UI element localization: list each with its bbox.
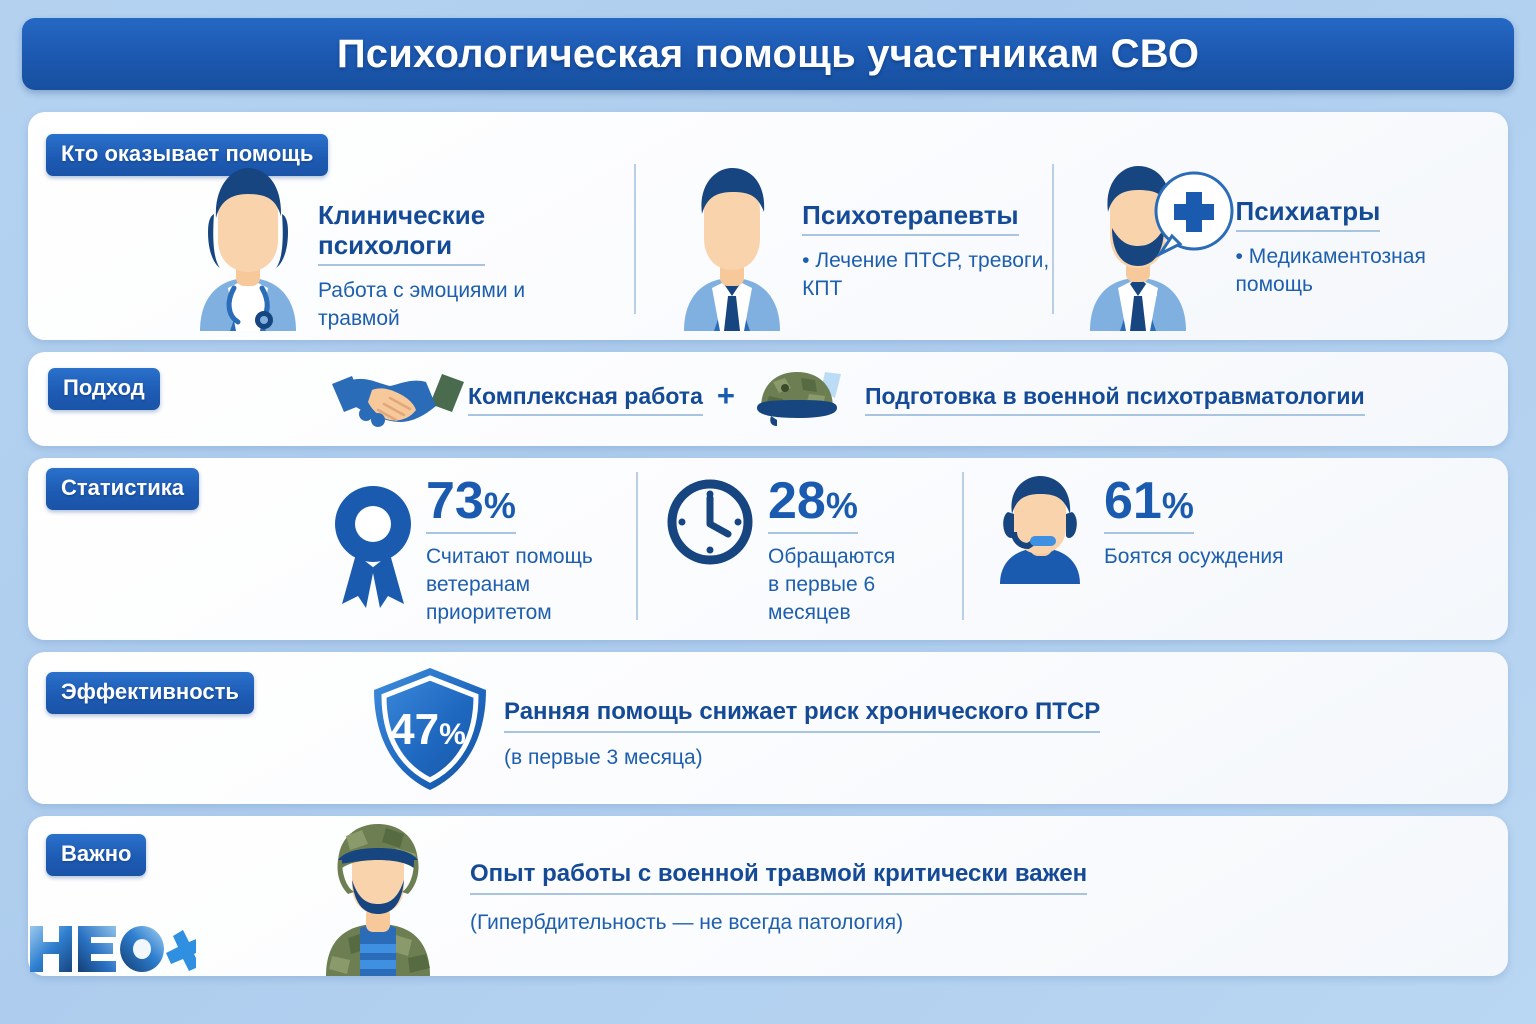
- handshake-icon: [328, 366, 468, 432]
- provider-description-text: Лечение ПТСР, тревоги, КПТ: [802, 249, 1049, 300]
- stat-value: 28%: [768, 478, 858, 534]
- section-providers: Кто оказывает помощь: [28, 112, 1508, 340]
- provider-text-psychiatrists: Психиатры • Медикаментозная помощь: [1236, 156, 1486, 299]
- military-helmet-icon: [749, 368, 853, 430]
- provider-column-psychiatrists: Психиатры • Медикаментозная помощь: [1052, 156, 1498, 336]
- column-divider: [1052, 164, 1054, 314]
- provider-description: • Медикаментозная помощь: [1236, 243, 1486, 298]
- provider-text-psychotherapists: Психотерапевты • Лечение ПТСР, тревоги, …: [802, 156, 1051, 303]
- bullet-marker: •: [802, 249, 809, 272]
- important-text: Опыт работы с военной травмой критически…: [470, 820, 1087, 935]
- soldier-icon: [308, 820, 448, 976]
- section-approach: Подход Комплексная работа +: [28, 352, 1508, 446]
- bearded-doctor-icon: [1076, 156, 1236, 331]
- approach-left-label: Комплексная работа: [468, 383, 703, 416]
- provider-description: Работа с эмоциями и травмой: [318, 277, 568, 332]
- section-label-approach: Подход: [48, 368, 160, 410]
- title-banner: Психологическая помощь участникам СВО: [22, 18, 1514, 90]
- stat-divider: [636, 472, 638, 620]
- section-effectiveness: Эффективность 47% Ранняя помощь снижает …: [28, 652, 1508, 804]
- stat-body: 61% Боятся осуждения: [1104, 476, 1284, 571]
- stat-caption: Боятся осуждения: [1104, 543, 1284, 571]
- provider-column-psychotherapists: Психотерапевты • Лечение ПТСР, тревоги, …: [634, 156, 1051, 336]
- stat-value: 73%: [426, 478, 516, 534]
- neo-plus-logo: [26, 918, 196, 980]
- section-label-important: Важно: [46, 834, 146, 876]
- section-label-statistics: Статистика: [46, 468, 199, 510]
- stat-item-priority: 73% Считают помощь ветеранам приоритетом: [328, 466, 636, 638]
- section-statistics: Статистика 73% Считают помощь ветеранам …: [28, 458, 1508, 640]
- page-title: Психологическая помощь участникам СВО: [337, 32, 1199, 77]
- column-divider: [634, 164, 636, 314]
- important-row: Опыт работы с военной травмой критически…: [308, 820, 1488, 976]
- provider-name: Психотерапевты: [802, 200, 1018, 236]
- approach-row: Комплексная работа + Подготовка в военно…: [328, 366, 1488, 432]
- section-label-effectiveness: Эффективность: [46, 672, 254, 714]
- stat-item-timing: 28% Обращаются в первые 6 месяцев: [636, 466, 962, 638]
- important-subline: (Гипербдительность — не всегда патология…: [470, 911, 1087, 935]
- provider-description-text: Медикаментозная помощь: [1236, 245, 1426, 296]
- award-ribbon-icon: [328, 476, 420, 626]
- effectiveness-text: Ранняя помощь снижает риск хронического …: [504, 666, 1100, 770]
- effectiveness-headline: Ранняя помощь снижает риск хронического …: [504, 698, 1100, 733]
- stat-caption: Обращаются в первые 6 месяцев: [768, 543, 962, 627]
- stat-divider: [962, 472, 964, 620]
- stat-caption: Считают помощь ветеранам приоритетом: [426, 543, 593, 627]
- important-headline: Опыт работы с военной травмой критически…: [470, 860, 1087, 895]
- shield-number: 47: [390, 705, 439, 754]
- shield-percent: %: [439, 718, 466, 751]
- provider-text-psychologists: Клинические психологи Работа с эмоциями …: [318, 156, 568, 333]
- section-important: Важно: [28, 816, 1508, 976]
- person-headset-icon: [986, 476, 1098, 586]
- infographic-canvas: Психологическая помощь участникам СВО Кт…: [0, 0, 1536, 1024]
- stat-body: 73% Считают помощь ветеранам приоритетом: [426, 476, 593, 627]
- bullet-marker: •: [1236, 245, 1243, 268]
- provider-description: • Лечение ПТСР, тревоги, КПТ: [802, 247, 1051, 302]
- approach-right-label: Подготовка в военной психотравматологии: [865, 383, 1365, 416]
- statistics-row: 73% Считают помощь ветеранам приоритетом…: [328, 466, 1498, 638]
- shield-icon: 47%: [368, 666, 492, 792]
- stat-body: 28% Обращаются в первые 6 месяцев: [768, 476, 962, 627]
- stat-value: 61%: [1104, 478, 1194, 534]
- effectiveness-subline: (в первые 3 месяца): [504, 746, 1100, 770]
- female-doctor-icon: [178, 156, 318, 331]
- providers-row: Клинические психологи Работа с эмоциями …: [178, 156, 1498, 336]
- stat-item-stigma: 61% Боятся осуждения: [962, 466, 1362, 638]
- provider-name: Психиатры: [1236, 196, 1381, 232]
- plus-icon: +: [717, 378, 735, 414]
- effectiveness-row: 47% Ранняя помощь снижает риск хроническ…: [368, 666, 1488, 792]
- provider-column-psychologists: Клинические психологи Работа с эмоциями …: [178, 156, 634, 336]
- provider-name: Клинические психологи: [318, 200, 485, 266]
- clock-icon: [664, 476, 762, 586]
- male-doctor-icon: [662, 156, 802, 331]
